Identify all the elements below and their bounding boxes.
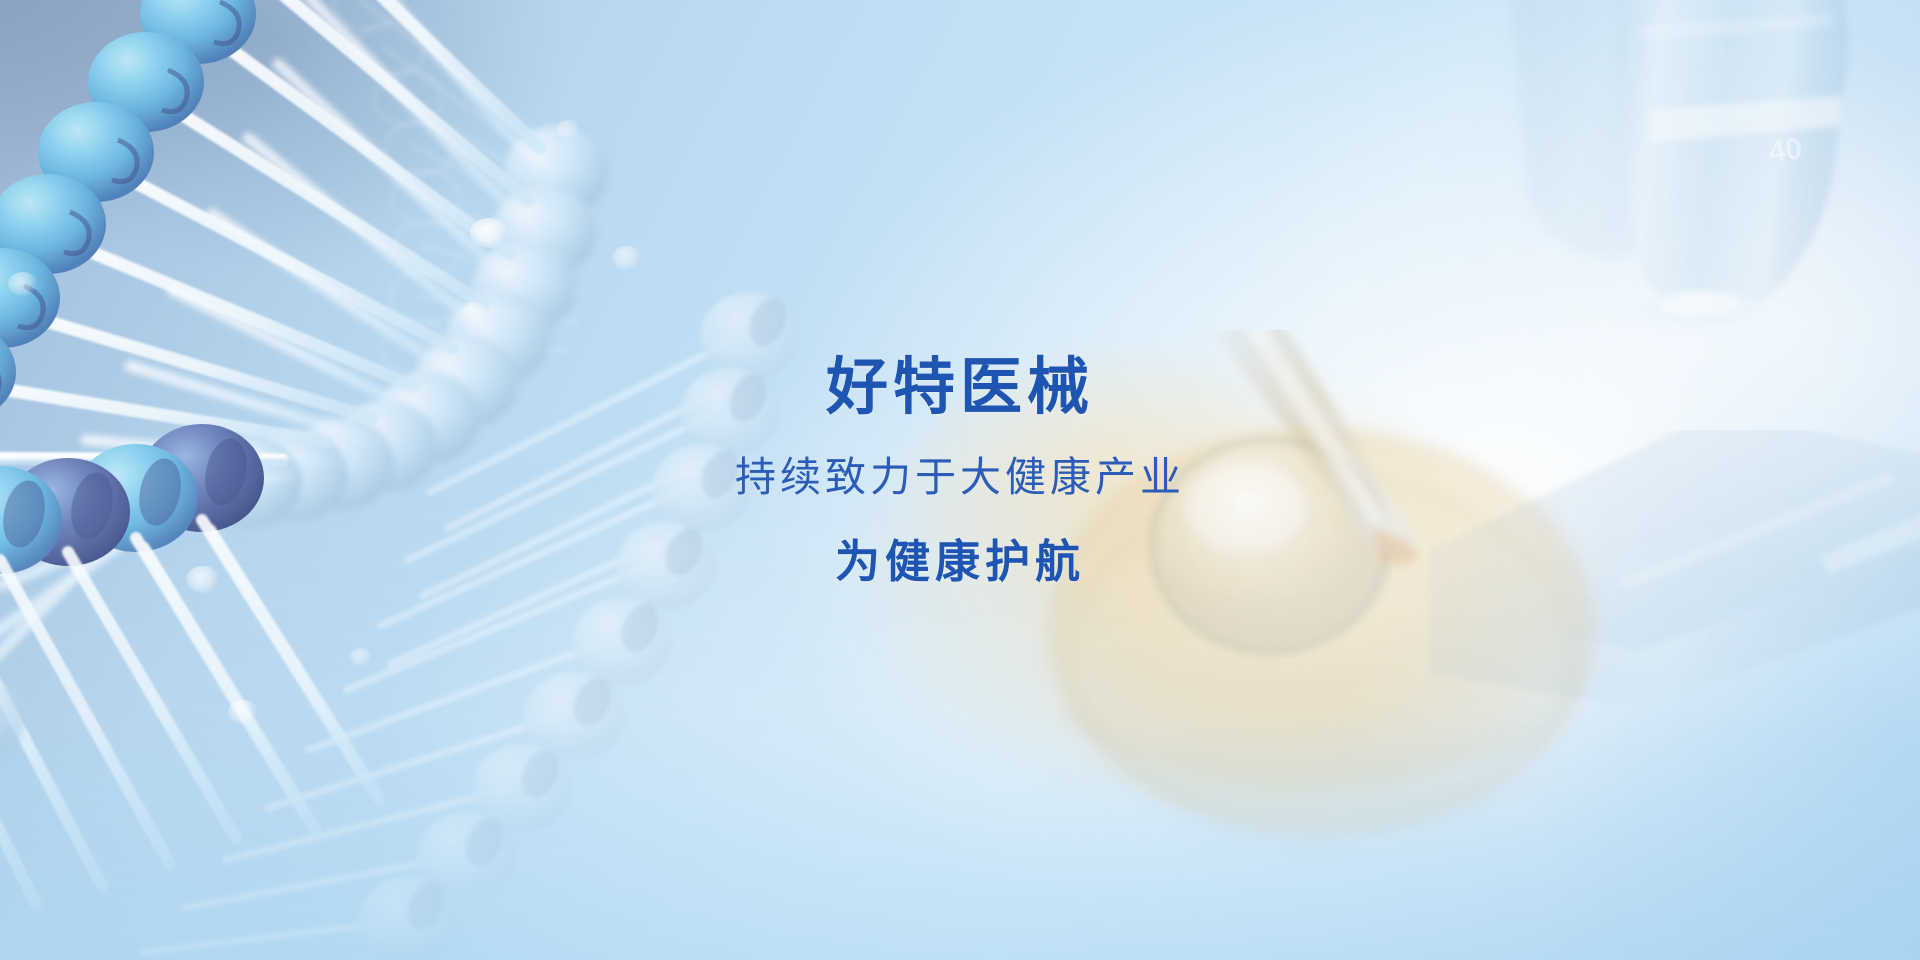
bokeh-dot — [8, 272, 38, 296]
bokeh-dot — [470, 218, 508, 248]
hero-text-block: 好特医械 持续致力于大健康产业 为健康护航 — [0, 355, 1920, 586]
bokeh-dot — [612, 246, 642, 270]
bokeh-dot — [462, 302, 488, 323]
dna-faint-rods — [360, 0, 580, 350]
bokeh-dot — [556, 120, 580, 139]
dna-bottom-pale-beads — [0, 674, 24, 960]
company-headline: 好特医械 — [0, 355, 1920, 421]
hero-banner: 40 — [0, 0, 1920, 960]
bokeh-dot — [228, 700, 258, 724]
bokeh-dot — [350, 648, 372, 666]
microscope-magnification-label: 40 — [1767, 132, 1804, 169]
company-tagline: 为健康护航 — [0, 537, 1920, 587]
dna-faint-beads — [334, 0, 462, 373]
microscope-barrel — [1614, 0, 1850, 326]
company-subline: 持续致力于大健康产业 — [0, 455, 1920, 501]
